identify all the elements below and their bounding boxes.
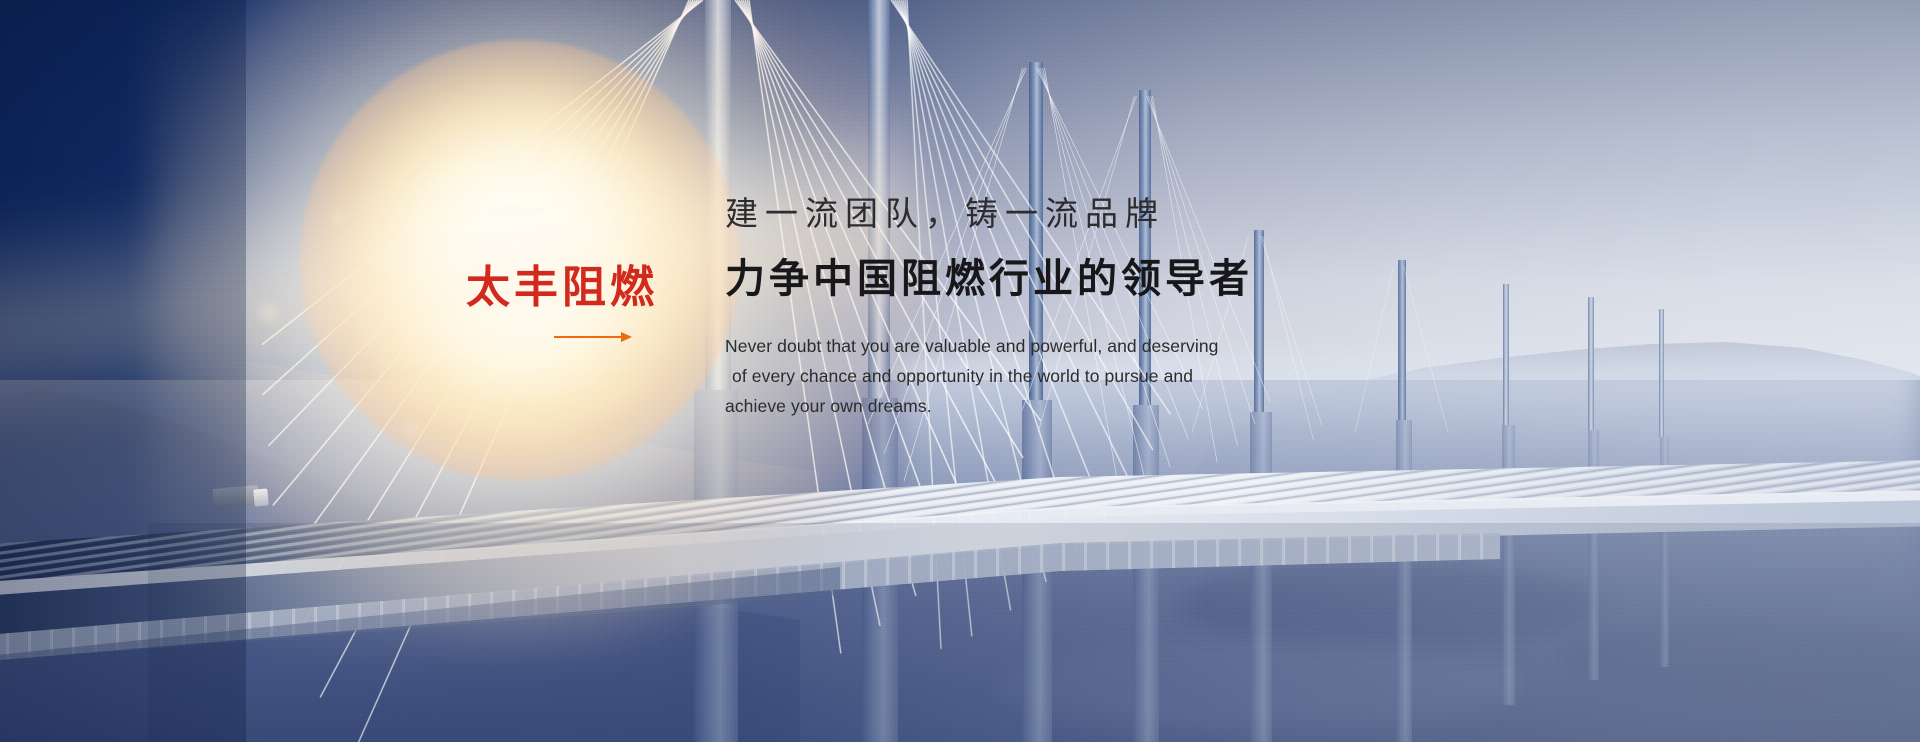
- arrow-head: [621, 332, 632, 342]
- hero-description-line-3: achieve your own dreams.: [725, 391, 1445, 421]
- hero-description-line-1: Never doubt that you are valuable and po…: [725, 331, 1445, 361]
- arrow-right-icon: [554, 332, 632, 342]
- page-title: 力争中国阻燃行业的领导者: [725, 253, 1445, 305]
- headline-subtitle: 建一流团队，铸一流品牌: [725, 192, 1445, 237]
- hero-description-line-2: of every chance and opportunity in the w…: [725, 361, 1445, 391]
- hero-banner: 太丰阻燃 建一流团队，铸一流品牌 力争中国阻燃行业的领导者 Never doub…: [0, 0, 1920, 742]
- arrow-shaft: [554, 336, 626, 338]
- brand-logo[interactable]: 太丰阻燃: [466, 266, 666, 342]
- banner-content: 太丰阻燃 建一流团队，铸一流品牌 力争中国阻燃行业的领导者 Never doub…: [0, 0, 1920, 742]
- brand-logo-text: 太丰阻燃: [466, 266, 666, 310]
- hero-description: Never doubt that you are valuable and po…: [725, 331, 1445, 421]
- hero-text-block: 建一流团队，铸一流品牌 力争中国阻燃行业的领导者 Never doubt tha…: [725, 192, 1445, 421]
